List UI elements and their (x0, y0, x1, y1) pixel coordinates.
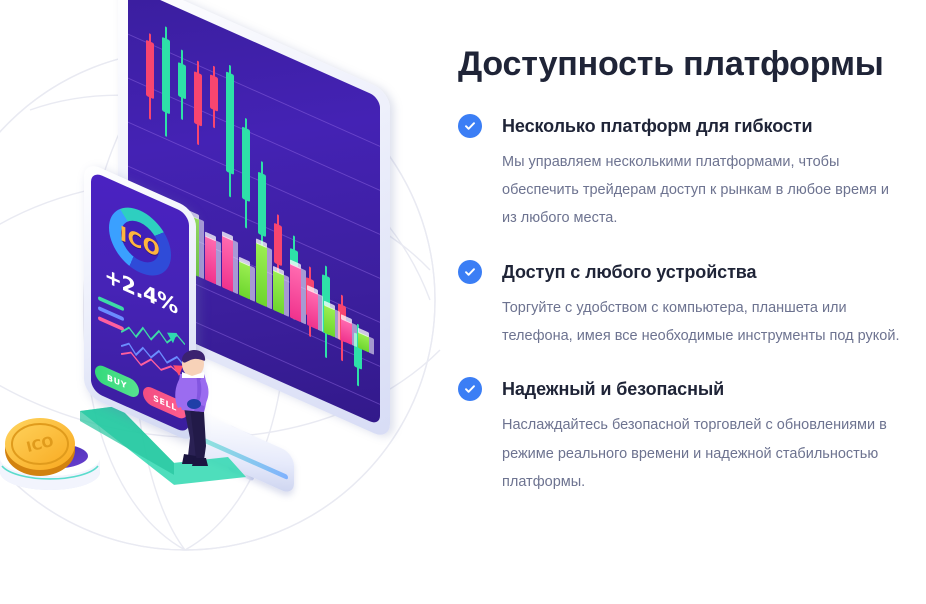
check-circle-icon (458, 260, 482, 284)
feature-item-platforms: Несколько платформ для гибкости Мы управ… (458, 113, 900, 233)
check-circle-icon (458, 114, 482, 138)
ico-coin-icon: ICO (2, 404, 78, 484)
candlestick (242, 116, 250, 230)
isometric-trading-platform-illustration: ICO ICO +2.4% (0, 0, 450, 604)
feature-item-secure: Надежный и безопасный Наслаждайтесь безо… (458, 376, 900, 496)
feature-item-devices: Доступ с любого устройства Торгуйте с уд… (458, 259, 900, 351)
features-panel: Доступность платформы Несколько платформ… (450, 0, 926, 604)
bar (290, 263, 301, 322)
candlestick (194, 59, 202, 147)
person-illustration (160, 342, 230, 472)
candlestick (162, 25, 170, 139)
page-title: Доступность платформы (458, 44, 900, 85)
candlestick (146, 32, 154, 122)
candlestick (226, 63, 234, 199)
bar (324, 305, 335, 338)
bar (307, 289, 318, 330)
feature-title: Доступ с любого устройства (502, 259, 900, 285)
bar (341, 318, 352, 345)
candlestick (178, 48, 186, 122)
feature-description: Торгуйте с удобством с компьютера, планш… (502, 294, 900, 351)
buy-button[interactable]: BUY (95, 363, 139, 401)
bar (273, 270, 284, 315)
platform-availability-section: ICO ICO +2.4% (0, 0, 926, 604)
bar (239, 261, 250, 300)
candlestick (210, 64, 218, 130)
feature-description: Мы управляем несколькими платформами, чт… (502, 148, 900, 233)
check-circle-icon (458, 377, 482, 401)
bar (256, 242, 267, 307)
feature-title: Несколько платформ для гибкости (502, 113, 900, 139)
bar (222, 235, 233, 292)
feature-description: Наслаждайтесь безопасной торговлей с обн… (502, 411, 900, 496)
feature-title: Надежный и безопасный (502, 376, 900, 402)
